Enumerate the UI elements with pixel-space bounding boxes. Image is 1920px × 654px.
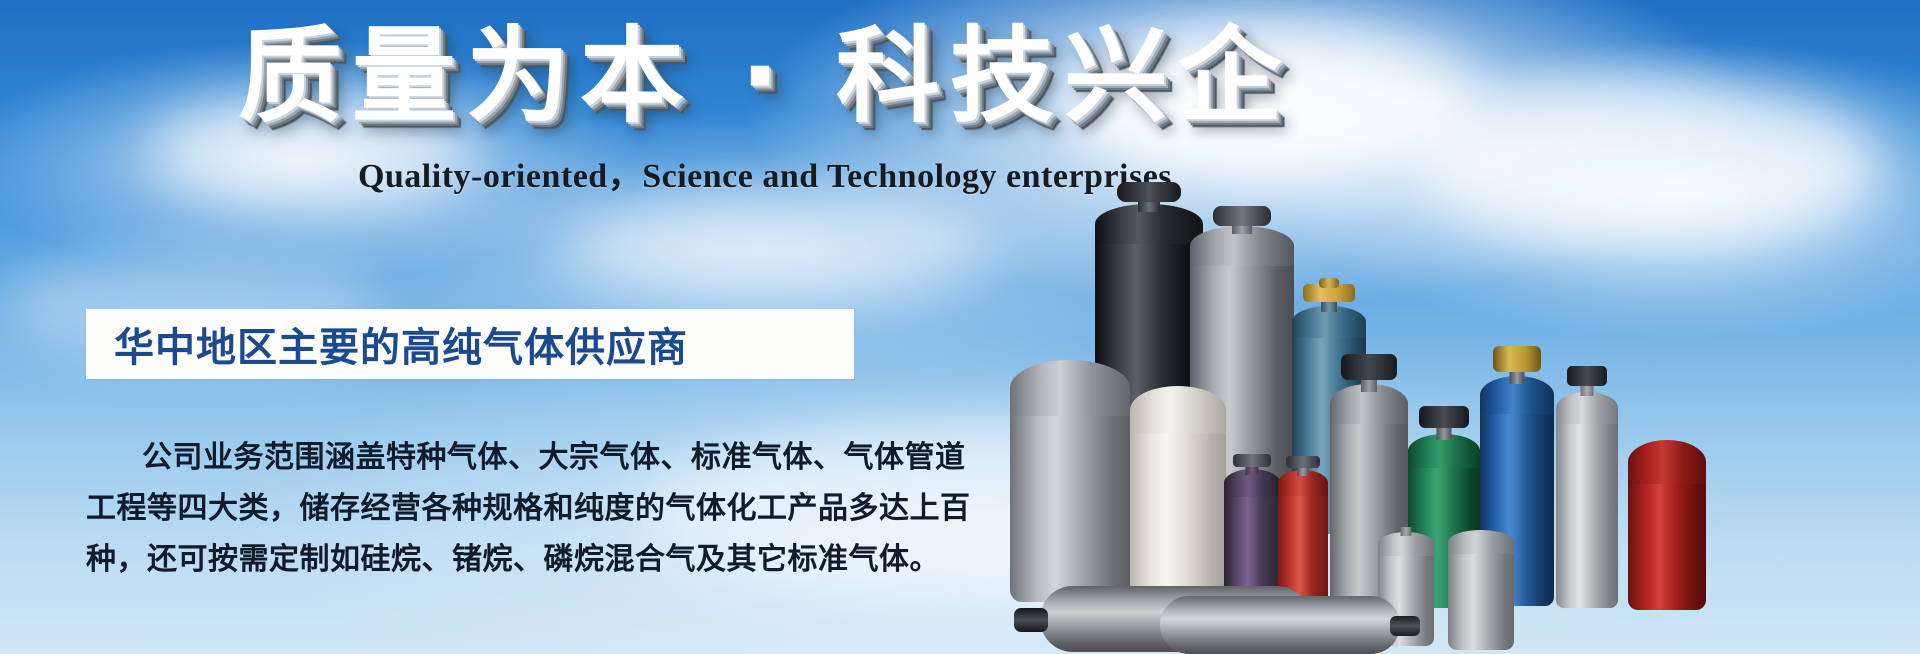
promotional-banner: 质量为本 · 科技兴企 Quality-oriented，Science and… — [0, 0, 1920, 654]
horizontal-grey-cylinder — [1160, 596, 1400, 654]
front-aluminium-cylinder — [1448, 522, 1514, 650]
description-paragraph: 公司业务范围涵盖特种气体、大宗气体、标准气体、气体管道 工程等四大类，储存经营各… — [86, 432, 966, 585]
dark-red-cylinder — [1628, 420, 1706, 610]
paragraph-line: 工程等四大类，储存经营各种规格和纯度的气体化工产品多达上百 — [86, 483, 966, 534]
paragraph-line: 公司业务范围涵盖特种气体、大宗气体、标准气体、气体管道 — [86, 432, 966, 483]
horizontal-cylinder-valve — [1390, 616, 1420, 636]
page-subtitle: Quality-oriented，Science and Technology … — [358, 148, 1172, 197]
horizontal-cylinder-valve — [1014, 608, 1048, 632]
highlight-banner-box: 华中地区主要的高纯气体供应商 — [86, 309, 854, 379]
paragraph-line: 种，还可按需定制如硅烷、锗烷、磷烷混合气及其它标准气体。 — [86, 534, 966, 585]
cloud-decoration — [560, 190, 990, 300]
gas-cylinder-collage — [1150, 150, 1920, 654]
headline-container: 质量为本 · 科技兴企 — [0, 18, 1530, 134]
aluminium-cylinder — [1556, 360, 1618, 608]
light-grey-cylinder — [1010, 352, 1130, 602]
white-cylinder — [1130, 376, 1226, 606]
highlight-banner-text: 华中地区主要的高纯气体供应商 — [86, 315, 688, 373]
page-title: 质量为本 · 科技兴企 — [238, 18, 1292, 134]
red-small-cylinder — [1278, 454, 1328, 604]
